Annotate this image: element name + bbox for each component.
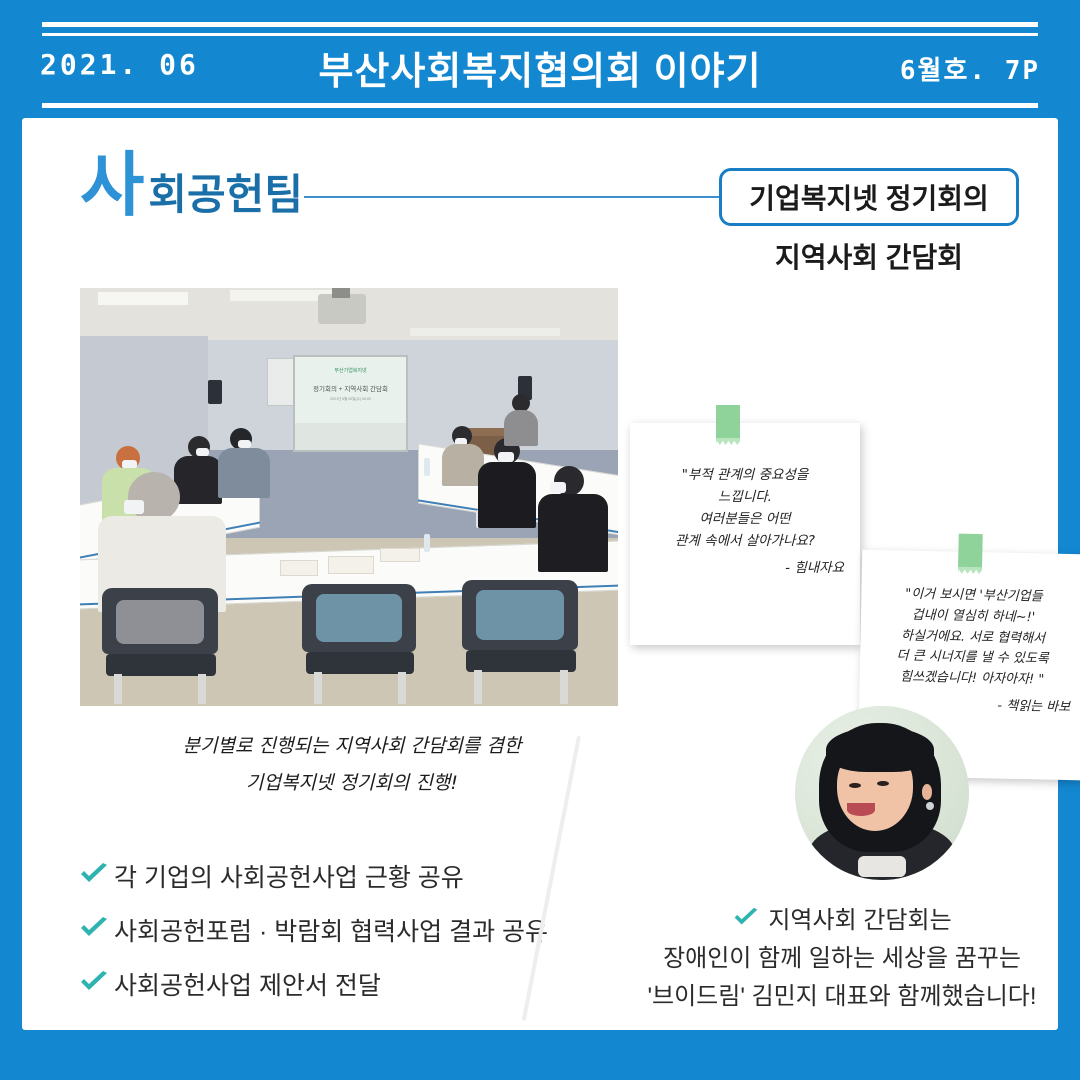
photo-document [280, 560, 318, 576]
check-icon [78, 862, 114, 891]
check-icon [78, 970, 114, 999]
photo-speaker [208, 380, 222, 404]
avatar-collar [858, 856, 907, 877]
right-caption-line-1-row: 지역사회 간담회는 [622, 902, 1062, 940]
meeting-badge: 기업복지넷 정기회의 [719, 168, 1019, 226]
quote-note-2-text: "이거 보시면 '부산기업들 겁내이 열심히 하네~!' 하실거에요. 서로 협… [865, 584, 1080, 719]
photo-face-mask [124, 500, 144, 514]
photo-water-bottle [424, 534, 430, 552]
photo-chair-leg [474, 670, 482, 704]
header-rule-top-thick [42, 22, 1038, 27]
photo-chair-seat [466, 650, 576, 672]
handwritten-caption: 분기별로 진행되는 지역사회 간담회를 겸한 기업복지넷 정기회의 진행! [82, 728, 622, 802]
photo-chair-mesh [316, 594, 402, 642]
avatar-eye [849, 783, 861, 788]
photo-nameplate [380, 548, 420, 562]
header-bar: 2021. 06 부산사회복지협의회 이야기 6월호. 7P [0, 0, 1080, 112]
quote-note-1-signature: - 힘내자요 [638, 558, 852, 580]
avatar-eye [877, 781, 889, 786]
right-caption-line-2: 장애인이 함께 일하는 세상을 꿈꾸는 [622, 940, 1062, 978]
photo-attendee-body [174, 456, 222, 504]
section-title-rest: 회공헌팀 [148, 174, 303, 216]
content-panel: 사 회공헌팀 기업복지넷 정기회의 지역사회 간담회 부산기업복지넷 [22, 118, 1058, 1030]
quote-note-1: "부적 관계의 중요성을 느낍니다. 여러분들은 어떤 관계 속에서 살아가나요… [630, 423, 860, 645]
photo-projector-lens [332, 288, 350, 298]
photo-presenter-body [504, 410, 538, 446]
list-item: 사회공헌포럼 · 박람회 협력사업 결과 공유 [78, 912, 608, 948]
photo-chair-mesh [476, 590, 564, 640]
section-title: 사 회공헌팀 [80, 150, 303, 220]
photo-ceiling-light [98, 292, 188, 305]
list-item-label: 각 기업의 사회공헌사업 근황 공유 [114, 858, 464, 894]
photo-face-mask [196, 448, 209, 456]
header-page-number: 6월호. 7P [810, 50, 1040, 87]
photo-chair-leg [314, 672, 322, 704]
right-caption-line-1: 지역사회 간담회는 [768, 902, 951, 940]
list-item-label: 사회공헌사업 제안서 전달 [114, 966, 381, 1002]
meeting-room-photo: 부산기업복지넷 정기회의 + 지역사회 간담회 2021년 6월 00일(수) … [80, 288, 618, 706]
photo-face-mask [498, 452, 514, 462]
photo-slide-logo: 부산기업복지넷 [334, 367, 366, 374]
meeting-subtitle: 지역사회 간담회 [719, 236, 1019, 276]
photo-slide-subtitle: 2021년 6월 00일(수) 00:00 [330, 397, 371, 402]
photo-chair-leg [198, 674, 206, 704]
header-rule-top-thin [42, 33, 1038, 36]
photo-attendee-head [128, 472, 180, 522]
tape-icon [716, 405, 740, 439]
photo-slide: 부산기업복지넷 정기회의 + 지역사회 간담회 2021년 6월 00일(수) … [295, 357, 406, 423]
avatar-smile [847, 803, 875, 815]
list-item: 각 기업의 사회공헌사업 근황 공유 [78, 858, 608, 894]
photo-face-mask [238, 440, 251, 448]
photo-chair-leg [398, 672, 406, 704]
right-caption: 지역사회 간담회는 장애인이 함께 일하는 세상을 꿈꾸는 '브이드림' 김민지… [622, 902, 1062, 1016]
photo-chair-mesh [116, 600, 204, 644]
photo-attendee-body [538, 494, 608, 572]
meeting-badge-label: 기업복지넷 정기회의 [749, 177, 989, 217]
right-caption-line-3: '브이드림' 김민지 대표와 함께했습니다! [622, 978, 1062, 1016]
photo-water-bottle [424, 458, 430, 476]
avatar-hair-front [826, 727, 934, 772]
photo-face-mask [550, 482, 566, 493]
photo-chair-leg [560, 670, 568, 704]
photo-attendee-body [218, 448, 270, 498]
photo-projection-screen: 부산기업복지넷 정기회의 + 지역사회 간담회 2021년 6월 00일(수) … [293, 355, 408, 452]
section-title-rule [304, 196, 722, 198]
newsletter-card: 2021. 06 부산사회복지협의회 이야기 6월호. 7P 사 회공헌팀 기업… [0, 0, 1080, 1080]
photo-ceiling-light [410, 328, 560, 336]
check-icon [78, 916, 114, 945]
quote-note-1-text: "부적 관계의 중요성을 느낍니다. 여러분들은 어떤 관계 속에서 살아가나요… [638, 465, 852, 580]
photo-chair-leg [114, 674, 122, 704]
photo-chair-seat [106, 654, 216, 676]
section-title-initial: 사 [80, 150, 144, 220]
photo-document [328, 556, 374, 574]
list-item-label: 사회공헌포럼 · 박람회 협력사업 결과 공유 [114, 912, 548, 948]
photo-slide-title: 정기회의 + 지역사회 간담회 [313, 383, 388, 393]
header-rule-bottom [42, 103, 1038, 108]
photo-projector [318, 294, 366, 324]
photo-attendee-body [478, 462, 536, 528]
check-icon [732, 902, 760, 940]
avatar [795, 706, 969, 880]
tape-icon [958, 534, 983, 568]
photo-chair-seat [306, 652, 414, 674]
